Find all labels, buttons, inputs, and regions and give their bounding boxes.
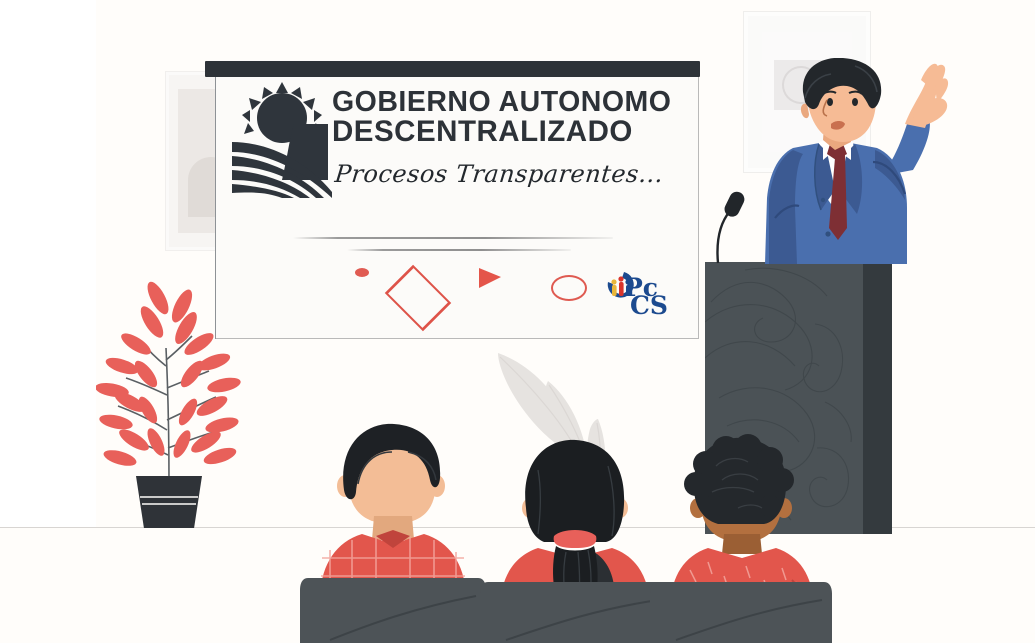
presentation-illustration: GOBIERNO AUTONOMO DESCENTRALIZADO Proces… (0, 0, 1035, 643)
slide-tagline: Procesos Transparentes... (334, 160, 697, 188)
plant-pot (136, 476, 202, 528)
red-triangle-shape (479, 268, 501, 288)
slide-divider-bottom (347, 249, 571, 251)
audience-member-right (650, 430, 832, 643)
plant-pot-stripe (142, 503, 196, 505)
audience-member-center (480, 430, 670, 643)
presenter-at-podium (735, 58, 950, 268)
projection-screen-top-bar (205, 61, 700, 77)
sun-over-hill-logo (232, 80, 340, 198)
red-dot-shape (355, 268, 369, 277)
slide-title-line-1: GOBIERNO AUTONOMO (332, 88, 692, 117)
red-ellipse-shape (551, 275, 587, 301)
audience-member-left (300, 418, 485, 643)
slide-title-line-2: DESCENTRALIZADO (332, 117, 692, 147)
slide-divider-top (293, 237, 613, 239)
svg-text:CS: CS (630, 291, 668, 318)
slide-title: GOBIERNO AUTONOMO DESCENTRALIZADO (332, 88, 692, 147)
plant-pot-stripe (140, 496, 198, 498)
cpccs-logo: Pc CS (604, 266, 676, 318)
podium-side (863, 262, 892, 534)
